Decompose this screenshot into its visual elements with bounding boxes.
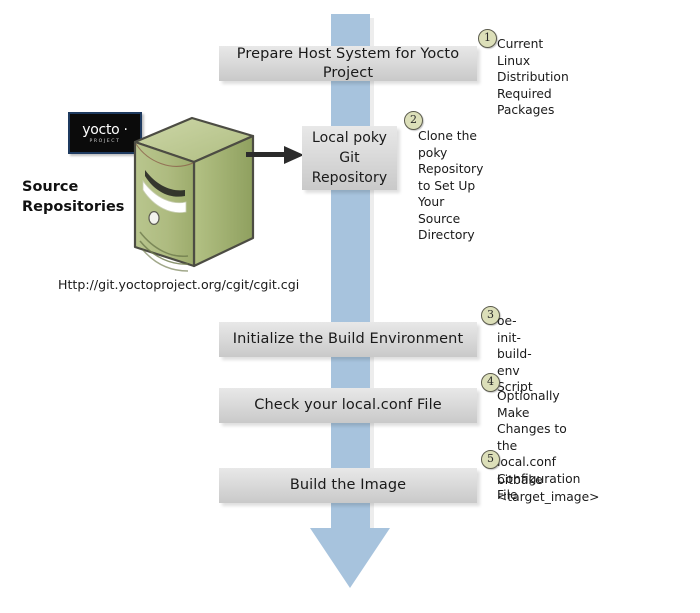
- step-number-badge-1: 1: [478, 29, 497, 48]
- step-description-3: oe-init-build-env Script: [497, 313, 533, 396]
- source-repository-server-icon: [126, 110, 262, 275]
- step-box-prepare-host[interactable]: Prepare Host System for Yocto Project: [219, 46, 477, 81]
- step-box-check-localconf[interactable]: Check your local.conf File: [219, 388, 477, 423]
- step-description-2: Clone the poky Repository to Set Up Your…: [418, 128, 483, 244]
- server-to-poky-arrow-icon: [246, 143, 306, 169]
- spine-shadow: [370, 18, 374, 534]
- source-repositories-label: Source Repositories: [22, 177, 137, 217]
- step-box-local-poky[interactable]: Local poky Git Repository: [302, 126, 397, 190]
- spine-arrow-icon: [310, 528, 390, 588]
- git-repository-url: Http://git.yoctoproject.org/cgit/cgit.cg…: [58, 277, 299, 292]
- yocto-logo-wordmark: yocto ·: [82, 123, 127, 138]
- step-number-badge-5: 5: [481, 450, 500, 469]
- diagram-canvas: yocto · PROJECT: [0, 0, 700, 613]
- step-box-build-image[interactable]: Build the Image: [219, 468, 477, 503]
- yocto-logo-subtext: PROJECT: [89, 139, 120, 144]
- workflow-spine: [331, 14, 370, 534]
- step-box-init-build-env[interactable]: Initialize the Build Environment: [219, 322, 477, 357]
- step-description-5: bitbake <target_image>: [497, 472, 599, 505]
- step-description-1: Current Linux Distribution Required Pack…: [497, 36, 569, 119]
